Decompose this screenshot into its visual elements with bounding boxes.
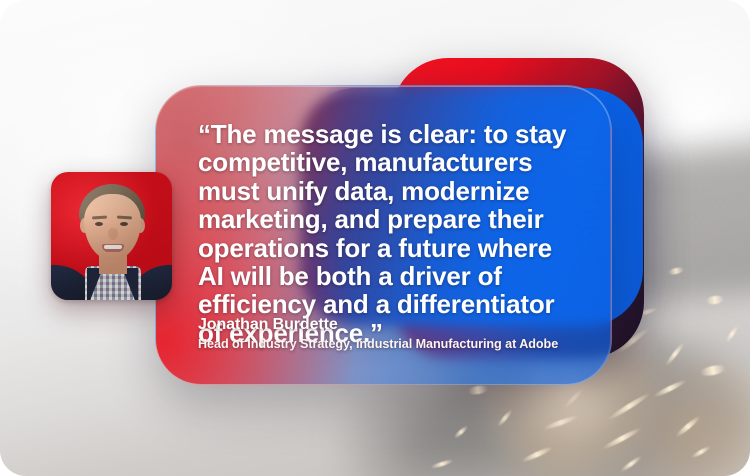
spark-5 <box>563 387 585 410</box>
quote-card-stage: “The message is clear: to stay competiti… <box>0 0 750 476</box>
spark-21 <box>725 325 740 344</box>
avatar-teeth <box>104 245 122 249</box>
quote-text: “The message is clear: to stay competiti… <box>198 120 575 347</box>
spark-1 <box>664 341 686 367</box>
spark-16 <box>467 384 488 395</box>
spark-15 <box>496 408 513 427</box>
spark-19 <box>690 445 711 459</box>
spark-9 <box>601 426 642 451</box>
spark-22 <box>668 266 685 276</box>
spark-17 <box>520 445 553 463</box>
spark-2 <box>699 363 726 377</box>
avatar-mouth <box>102 244 124 252</box>
spark-23 <box>430 458 454 469</box>
avatar-eye-right <box>120 222 128 226</box>
spark-4 <box>606 391 651 422</box>
avatar <box>51 172 172 300</box>
attribution-block: Jonathan Burdette Head of Industry Strat… <box>198 316 558 351</box>
spark-18 <box>619 455 642 474</box>
author-name: Jonathan Burdette <box>198 316 558 334</box>
avatar-nose <box>108 228 118 240</box>
spark-10 <box>674 414 702 438</box>
author-role: Head of Industry Strategy, Industrial Ma… <box>198 337 558 351</box>
quote-card-content: “The message is clear: to stay competiti… <box>156 86 611 347</box>
spark-8 <box>542 414 579 432</box>
spark-14 <box>706 295 725 305</box>
spark-20 <box>453 424 469 439</box>
spark-3 <box>653 378 688 398</box>
avatar-eye-left <box>95 222 103 226</box>
